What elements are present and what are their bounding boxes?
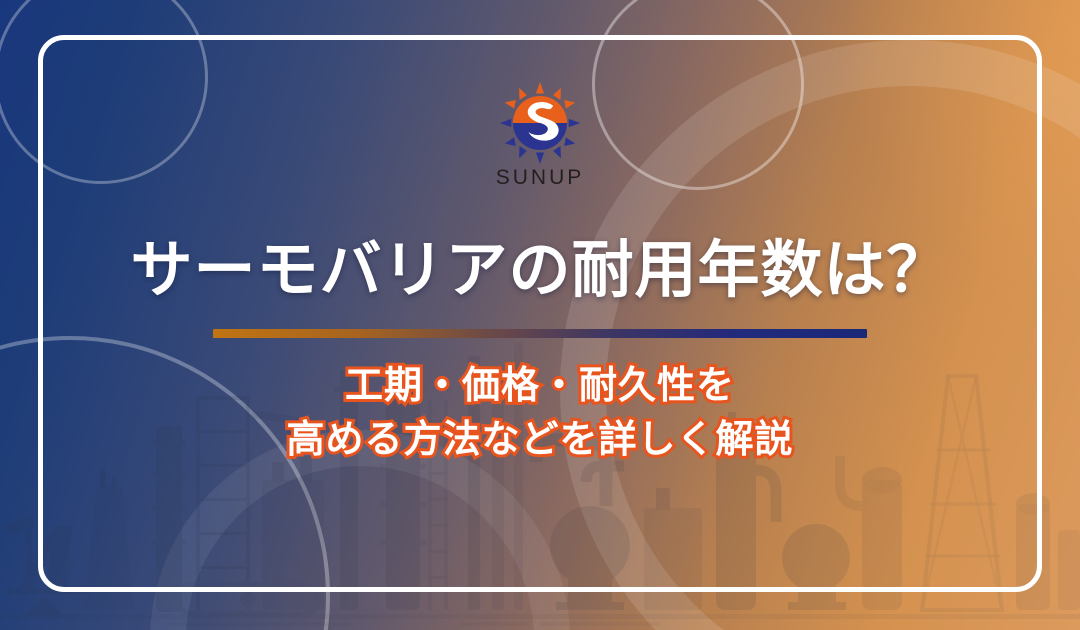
banner-root: SUNUP サーモバリアの耐用年数は？ 工期・価格・耐久性を 高める方法などを詳… [0, 0, 1080, 630]
subtitle-line-1: 工期・価格・耐久性を [286, 360, 793, 414]
page-title: サーモバリアの耐用年数は？ [130, 238, 949, 305]
subtitle-line-2: 高める方法などを詳しく解説 [286, 414, 793, 468]
banner-content: SUNUP サーモバリアの耐用年数は？ 工期・価格・耐久性を 高める方法などを詳… [0, 0, 1080, 630]
gradient-divider [213, 329, 867, 338]
brand-wordmark: SUNUP [496, 166, 585, 190]
brand-logo: SUNUP [496, 82, 585, 190]
sunup-sun-logo-icon [499, 82, 581, 164]
page-subtitle: 工期・価格・耐久性を 高める方法などを詳しく解説 [286, 360, 793, 468]
